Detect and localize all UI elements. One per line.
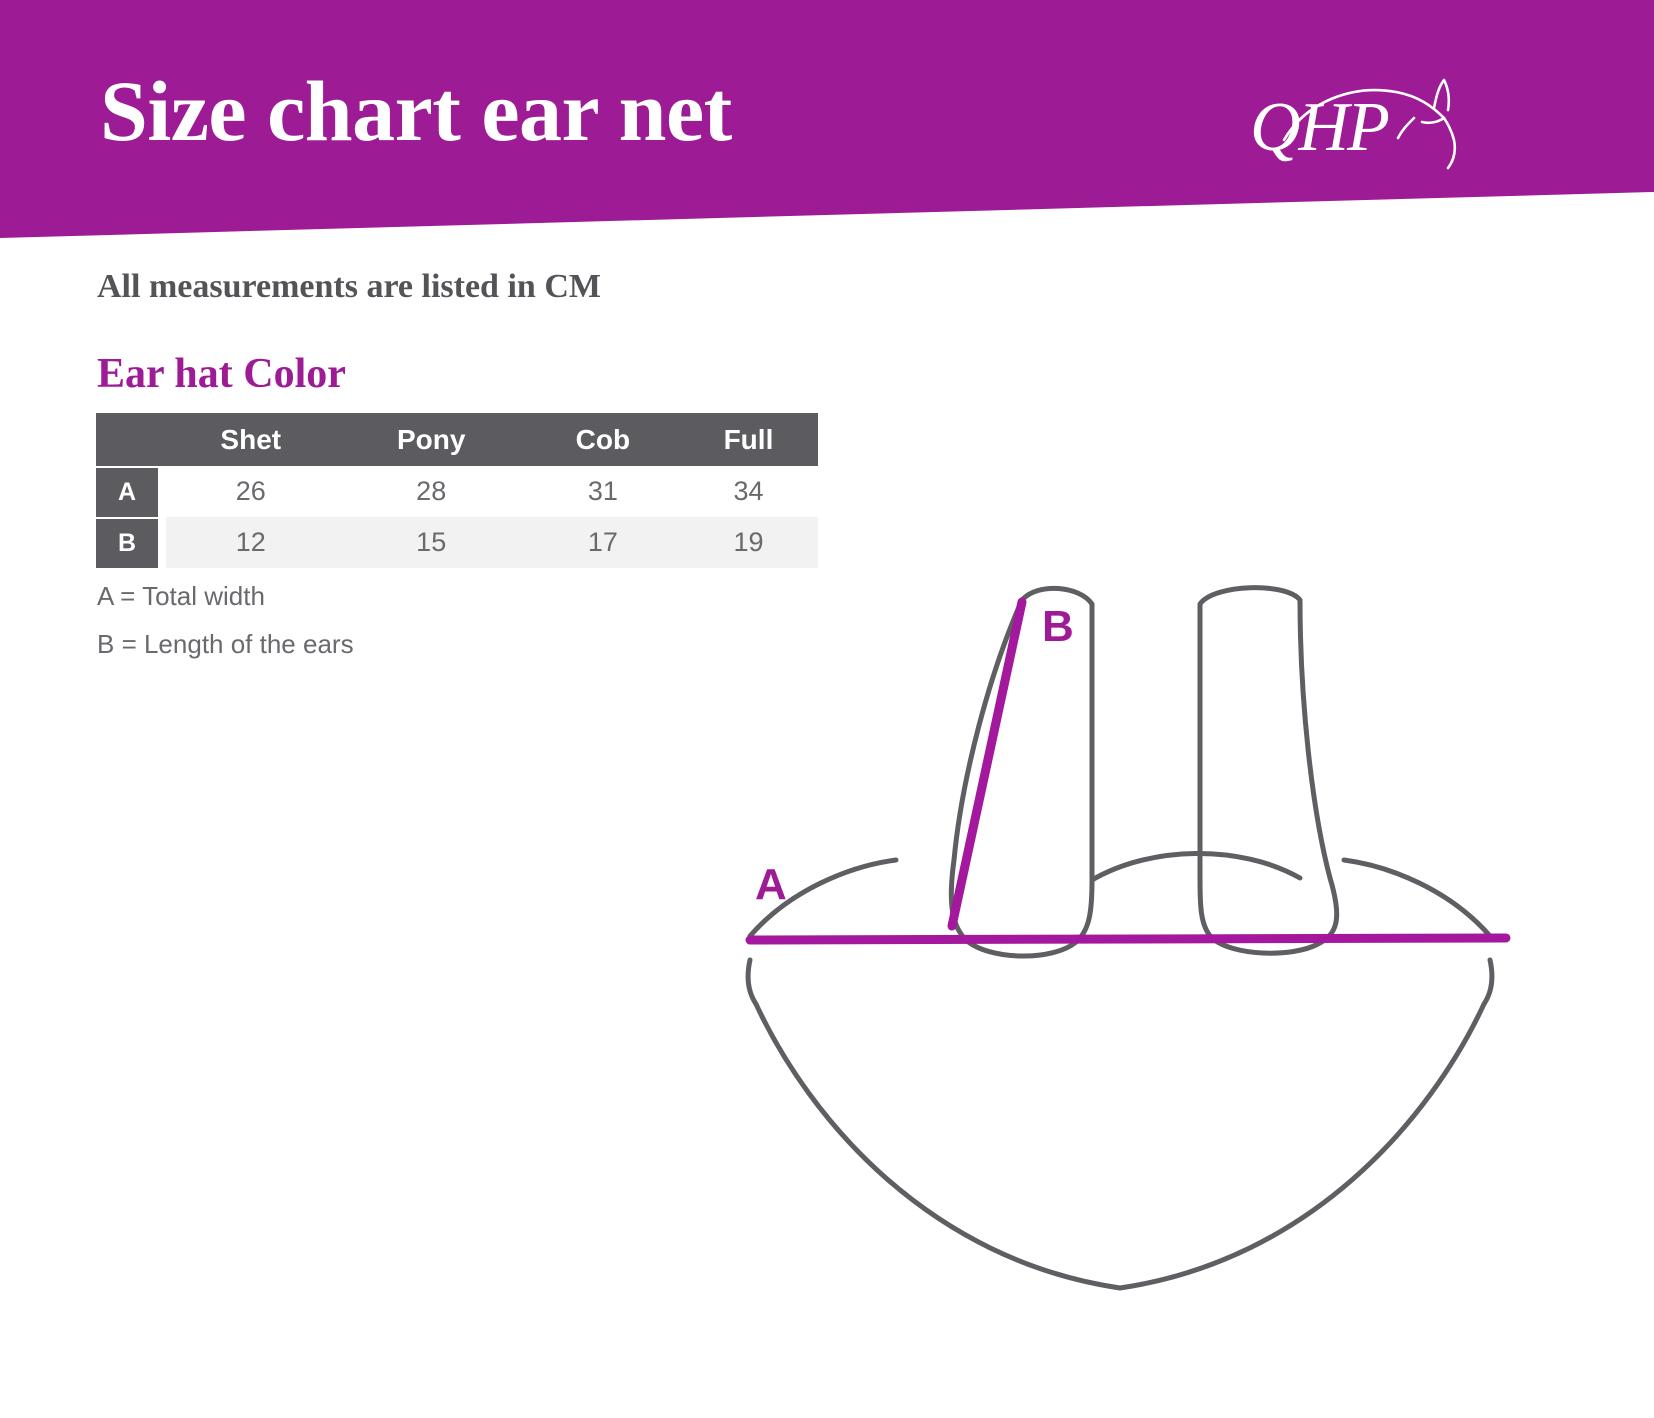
- qhp-logo: QHP: [1248, 78, 1480, 174]
- cell-a-cob: 31: [527, 466, 679, 517]
- measure-line-a: [750, 938, 1506, 940]
- column-header-cob: Cob: [527, 413, 679, 466]
- diagram-label-b: B: [1042, 602, 1074, 652]
- row-label-a: A: [96, 466, 166, 517]
- column-header-pony: Pony: [336, 413, 527, 466]
- cell-b-shet: 12: [166, 517, 336, 568]
- page-header: Size chart ear net QHP: [0, 0, 1654, 240]
- table-header: Shet Pony Cob Full: [96, 413, 818, 466]
- column-header-shet: Shet: [166, 413, 336, 466]
- diagram-label-a: A: [755, 860, 787, 910]
- legend-b: B = Length of the ears: [97, 629, 354, 660]
- cell-b-cob: 17: [527, 517, 679, 568]
- page-title: Size chart ear net: [100, 68, 732, 154]
- cell-a-full: 34: [679, 466, 818, 517]
- svg-text:QHP: QHP: [1250, 89, 1388, 166]
- table-corner-cell: [96, 413, 166, 466]
- section-title: Ear hat Color: [97, 350, 346, 398]
- column-header-full: Full: [679, 413, 818, 466]
- table-body: A 26 28 31 34 B 12 15 17 19: [96, 466, 818, 568]
- row-label-b: B: [96, 517, 166, 568]
- cell-a-shet: 26: [166, 466, 336, 517]
- legend-a: A = Total width: [97, 581, 265, 612]
- cell-a-pony: 28: [336, 466, 527, 517]
- table-header-row: Shet Pony Cob Full: [96, 413, 818, 466]
- size-chart-table: Shet Pony Cob Full A 26 28 31 34 B 12 15…: [96, 413, 818, 568]
- table-row: A 26 28 31 34: [96, 466, 818, 517]
- ear-net-diagram: [700, 560, 1560, 1320]
- cell-b-pony: 15: [336, 517, 527, 568]
- measure-line-b: [952, 602, 1022, 926]
- measurements-note: All measurements are listed in CM: [97, 268, 601, 306]
